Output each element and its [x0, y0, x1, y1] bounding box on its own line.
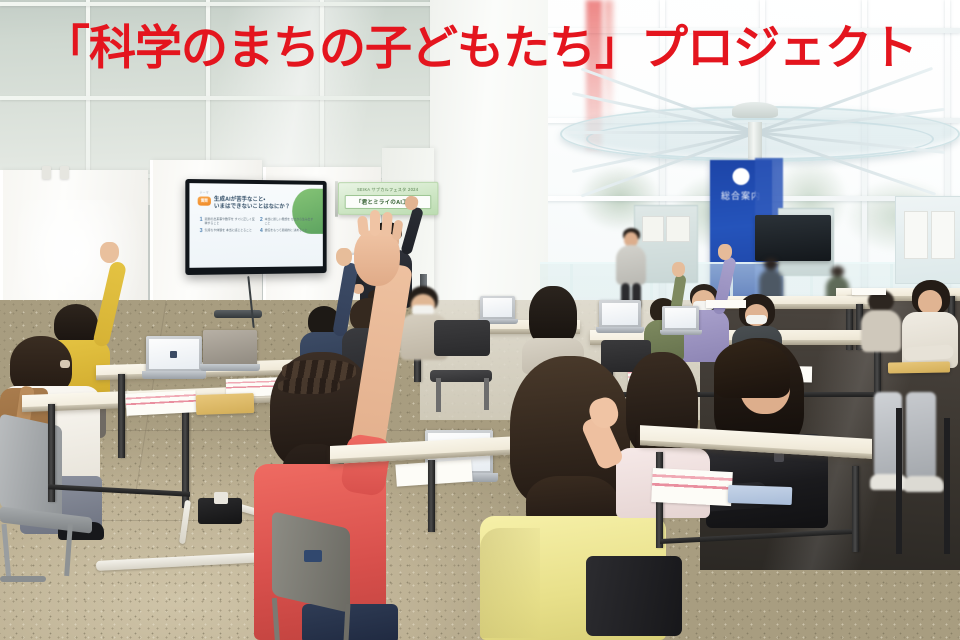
slide-title-line2: いまはできないことはなにか？ — [214, 204, 290, 211]
plug — [214, 492, 228, 504]
slide-item: 2 本当に新しい発想を ゼロから生み出すこと — [260, 217, 313, 225]
slide-item: 4 責任をもって最終的に 決めること — [260, 228, 313, 234]
monitor-base — [214, 310, 262, 318]
hair-clip — [60, 360, 70, 368]
participant-rear-right — [860, 290, 902, 352]
info-mark-icon — [733, 168, 750, 185]
laptop-mid-right[interactable] — [596, 300, 644, 334]
slide-item-text: 最新の出来事や数字を すぐに正しく反映すること — [205, 217, 255, 225]
paper — [852, 288, 886, 295]
notebook — [728, 485, 793, 505]
page-title: 「科学のまちの子どもたち」プロジェクト — [0, 18, 960, 80]
pencil-case — [888, 361, 950, 373]
chair-front-center[interactable] — [272, 520, 402, 640]
event-banner-top-line: SEIKA サブカルフェスタ 2024 — [339, 183, 437, 193]
ceiling-canopy — [548, 96, 960, 166]
banner-pole — [335, 181, 338, 217]
slide-item-number: 1 — [200, 217, 203, 225]
pencil-case-left — [196, 393, 255, 415]
slide-item-text: 本当に新しい発想を ゼロから生み出すこと — [265, 217, 314, 225]
slide-item: 1 最新の出来事や数字を すぐに正しく反映すること — [200, 217, 255, 225]
slide-item-list: 1 最新の出来事や数字を すぐに正しく反映すること 2 本当に新しい発想を ゼロ… — [198, 217, 316, 235]
rear-monitor — [755, 215, 831, 261]
event-photo-stage: 総合案内 — [0, 0, 960, 640]
handout-left — [125, 390, 196, 416]
poster-board — [895, 196, 960, 284]
slide-item-number: 3 — [200, 228, 203, 234]
slide-item-text: 気持ちや体験を 本当に感じとること — [205, 228, 252, 234]
paper — [706, 300, 746, 308]
chair-label — [304, 550, 322, 562]
slide-item-text: 責任をもって最終的に 決めること — [265, 228, 308, 234]
laptop-left-1[interactable] — [142, 336, 206, 380]
slide-item-number: 2 — [260, 217, 263, 225]
handout-right — [651, 468, 733, 506]
laptop-mid-right-2[interactable] — [660, 306, 702, 336]
slide-item-number: 4 — [260, 228, 263, 234]
presentation-monitor[interactable]: テーマ 質問 生成AIが苦手なこと・ いまはできないことはなにか？ 1 最新の出… — [185, 179, 326, 275]
slide-item: 3 気持ちや体験を 本当に感じとること — [200, 228, 255, 234]
face-mask — [746, 315, 767, 324]
page-title-text: 「科学のまちの子どもたち」プロジェクト — [43, 21, 917, 76]
chair-front-right[interactable] — [586, 556, 706, 640]
chair-right-rear[interactable] — [892, 408, 956, 558]
slide-badge: 質問 — [198, 196, 211, 205]
event-banner: SEIKA サブカルフェスタ 2024 「君とミライのAI工房」 — [338, 182, 438, 215]
slide-content: テーマ 質問 生成AIが苦手なこと・ いまはできないことはなにか？ 1 最新の出… — [189, 183, 322, 268]
